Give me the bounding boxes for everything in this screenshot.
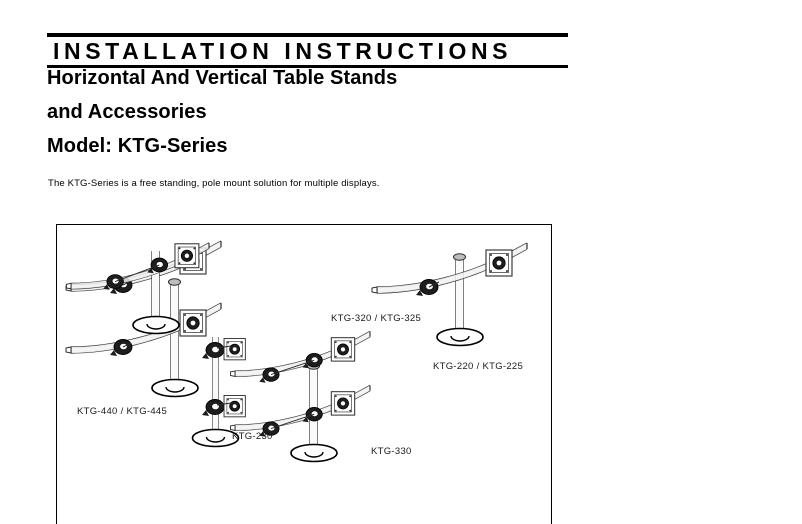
product-label-ktg-220-225: KTG-220 / KTG-225 <box>433 361 523 372</box>
product-label-ktg-230: KTG-230 <box>232 431 273 442</box>
subtitle-line-1: Horizontal And Vertical Table Stands <box>47 67 397 90</box>
product-label-ktg-320-325: KTG-320 / KTG-325 <box>331 313 421 324</box>
product-illustrations <box>57 225 552 524</box>
product-diagram-panel: KTG-440 / KTG-445 KTG-230 KTG-320 / KTG-… <box>56 224 552 524</box>
product-label-ktg-330: KTG-330 <box>371 446 412 457</box>
subtitle-line-2: and Accessories <box>47 101 207 124</box>
illustration-ktg-220-225 <box>372 243 527 346</box>
model-line: Model: KTG-Series <box>47 135 228 158</box>
title-block: INSTALLATION INSTRUCTIONS <box>47 33 568 68</box>
intro-paragraph: The KTG-Series is a free standing, pole … <box>48 178 380 189</box>
page-title: INSTALLATION INSTRUCTIONS <box>47 37 568 65</box>
product-label-ktg-440-445: KTG-440 / KTG-445 <box>77 406 167 417</box>
